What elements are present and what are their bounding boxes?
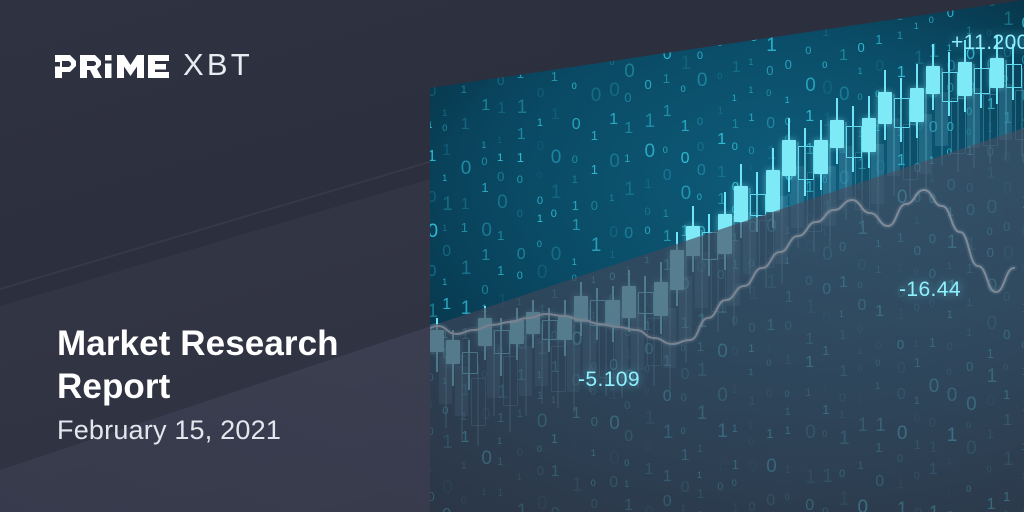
page-title-line2: Report xyxy=(57,366,339,409)
market-research-report-banner: 1110110001100010101110111101110101001011… xyxy=(0,0,1024,512)
page-title-line1: Market Research xyxy=(57,323,339,366)
prime-xbt-logo[interactable]: XBT xyxy=(55,47,253,83)
chart-annotation-2: -5.109 xyxy=(578,368,640,392)
chart-annotation-1: -16.44 xyxy=(899,278,961,302)
prime-wordmark-icon xyxy=(55,52,170,78)
chart-annotation-0: +11.200 xyxy=(951,31,1024,55)
report-date: February 15, 2021 xyxy=(57,415,281,446)
page-title: Market Research Report xyxy=(57,323,339,408)
xbt-wordmark: XBT xyxy=(183,47,253,83)
